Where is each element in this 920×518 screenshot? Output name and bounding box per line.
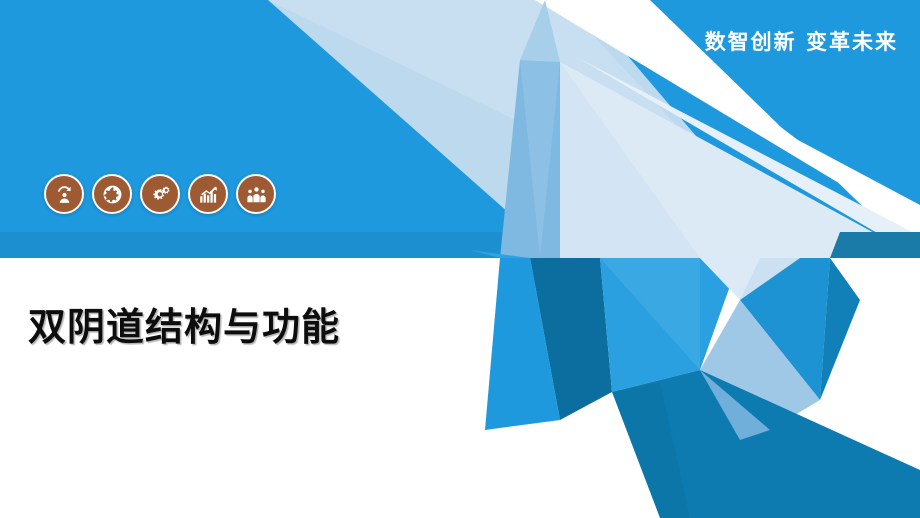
icon-badge-refresh-person[interactable]: [44, 174, 84, 214]
slide-main-title: 双阴道结构与功能: [28, 296, 340, 351]
icon-badge-globe[interactable]: [92, 174, 132, 214]
geometric-background-art: [0, 0, 920, 518]
refresh-person-icon: [54, 184, 75, 205]
presentation-slide: 数智创新 变革未来: [0, 0, 920, 518]
icon-badge-bar-chart-growth[interactable]: [188, 174, 228, 214]
icon-strip: [44, 174, 276, 214]
icon-badge-gears[interactable]: [140, 174, 180, 214]
bar-chart-growth-icon: [198, 184, 219, 205]
icon-badge-people-group[interactable]: [236, 174, 276, 214]
people-group-icon: [246, 184, 267, 205]
globe-icon: [102, 184, 123, 205]
header-tagline: 数智创新 变革未来: [705, 26, 898, 56]
gears-icon: [150, 184, 171, 205]
far-right-cap: [830, 232, 920, 258]
